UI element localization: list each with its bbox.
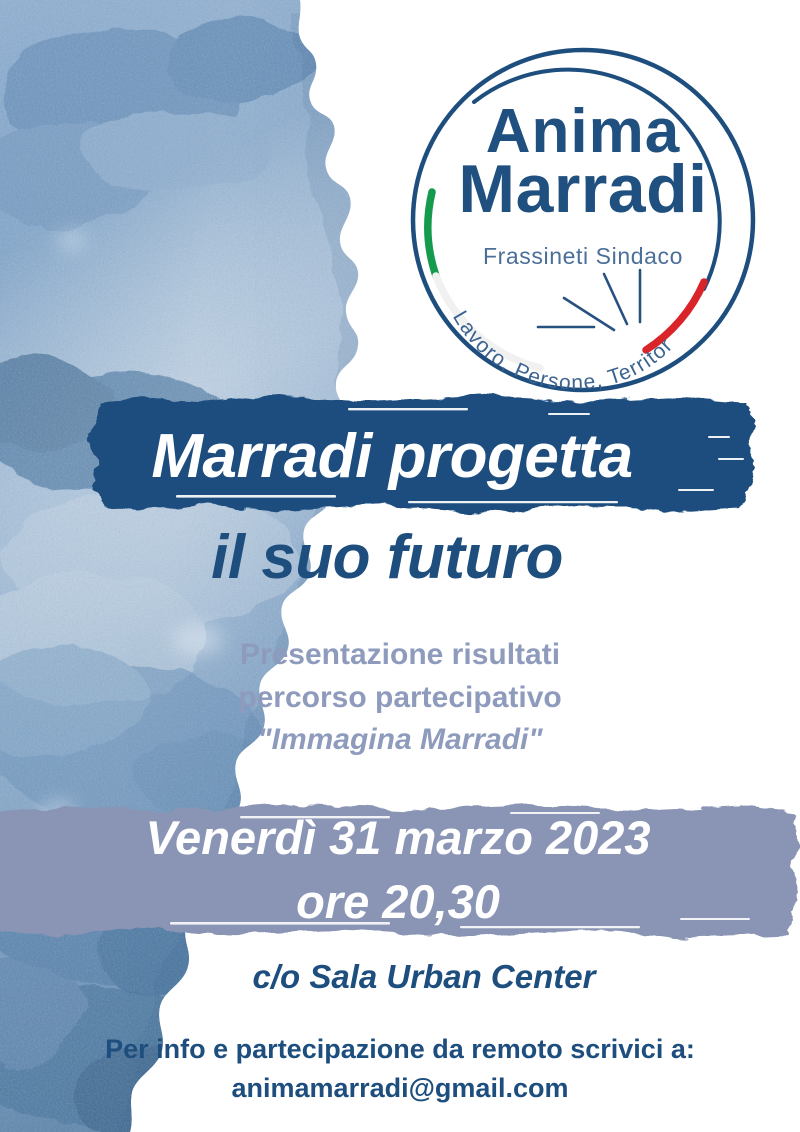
headline-line-2: il suo futuro — [0, 522, 787, 593]
subtitle-line-1: Presentazione risultati — [0, 634, 800, 677]
subtitle-block: Presentazione risultati percorso parteci… — [0, 634, 800, 762]
contact-email[interactable]: animamarradi@gmail.com — [0, 1069, 800, 1108]
subtitle-line-2: percorso partecipativo — [0, 677, 800, 720]
contact-block: Per info e partecipazione da remoto scri… — [0, 1030, 800, 1108]
date-line-2: ore 20,30 — [0, 870, 798, 934]
poster-canvas: Anima Marradi Frassineti Sindaco Lavoro,… — [0, 0, 800, 1132]
venue-text: c/o Sala Urban Center — [24, 958, 800, 996]
date-text-block: Venerdì 31 marzo 2023 ore 20,30 — [0, 806, 798, 934]
headline-line-1: Marradi progetta — [0, 392, 792, 520]
anima-marradi-logo: Anima Marradi Frassineti Sindaco Lavoro,… — [408, 44, 758, 396]
subtitle-line-3: "Immagina Marradi" — [0, 719, 800, 762]
contact-line-1: Per info e partecipazione da remoto scri… — [0, 1030, 800, 1069]
date-line-1: Venerdì 31 marzo 2023 — [0, 806, 798, 870]
logo-subtitle: Frassineti Sindaco — [483, 243, 683, 269]
logo-line2: Marradi — [458, 151, 707, 227]
